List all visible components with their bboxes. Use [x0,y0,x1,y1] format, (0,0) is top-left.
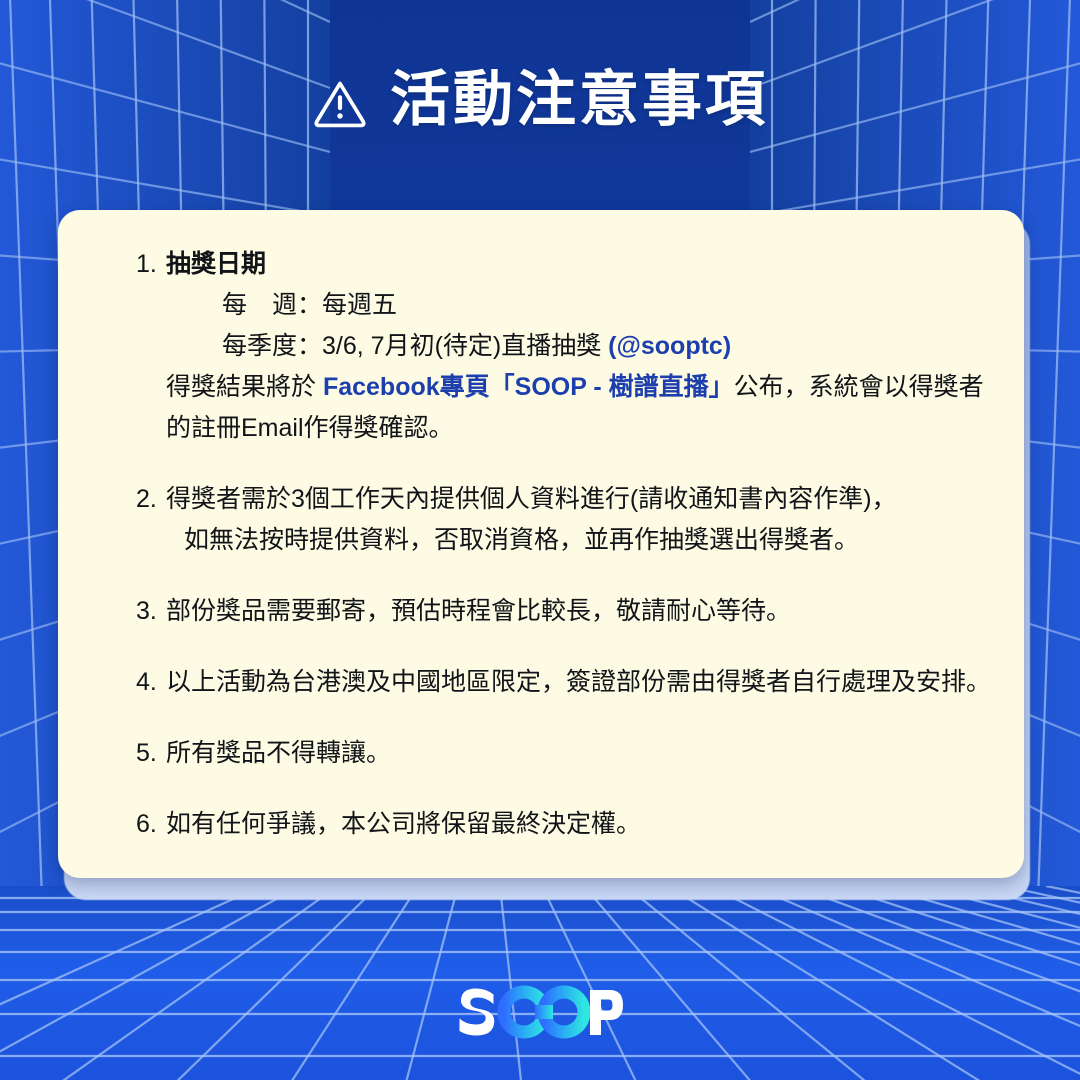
notice-1-paragraph-prefix: 得獎結果將於 [166,373,323,401]
notice-list: 1. 抽獎日期 每 週：每週五 每季度：3/6, 7月初(待定)直播抽獎 (@s… [136,244,998,845]
notice-1-row-weekly: 每 週：每週五 [166,285,998,326]
warning-triangle-icon [312,76,368,132]
list-item: 5. 所有獎品不得轉讓。 [136,733,998,774]
poster-header: 活動注意事項 [0,0,1080,200]
notice-card-wrapper: 1. 抽獎日期 每 週：每週五 每季度：3/6, 7月初(待定)直播抽獎 (@s… [58,210,1024,878]
page-title: 活動注意事項 [390,70,768,130]
notice-6-line1: 如有任何爭議，本公司將保留最終決定權。 [166,804,998,845]
facebook-page-link[interactable]: Facebook專頁「SOOP - 樹譜直播」 [323,373,734,401]
notice-1-row-quarterly-value: 3/6, 7月初(待定)直播抽獎 [322,332,601,360]
list-item: 1. 抽獎日期 每 週：每週五 每季度：3/6, 7月初(待定)直播抽獎 (@s… [136,244,998,449]
poster-root: 活動注意事項 1. 抽獎日期 每 週：每週五 每季度：3/6, 7月初(待定)直… [0,0,1080,1080]
list-item: 3. 部份獎品需要郵寄，預估時程會比較長，敬請耐心等待。 [136,591,998,632]
notice-3-line1: 部份獎品需要郵寄，預估時程會比較長，敬請耐心等待。 [166,591,998,632]
notice-card: 1. 抽獎日期 每 週：每週五 每季度：3/6, 7月初(待定)直播抽獎 (@s… [58,210,1024,878]
notice-1-row-quarterly: 每季度：3/6, 7月初(待定)直播抽獎 (@sooptc) [166,326,998,367]
list-item: 2. 得獎者需於3個工作天內提供個人資料進行(請收通知書內容作準)， 如無法按時… [136,479,998,561]
list-item: 6. 如有任何爭議，本公司將保留最終決定權。 [136,804,998,845]
list-item-number: 4. [136,662,166,702]
list-item-number: 2. [136,479,166,519]
list-item-number: 5. [136,733,166,773]
soop-logo [0,976,1080,1046]
list-item: 4. 以上活動為台港澳及中國地區限定，簽證部份需由得獎者自行處理及安排。 [136,662,998,703]
notice-2-line2: 如無法按時提供資料，否取消資格，並再作抽獎選出得獎者。 [166,520,998,561]
soop-logo-icon [455,979,625,1043]
list-item-number: 6. [136,804,166,844]
notice-4-line1: 以上活動為台港澳及中國地區限定，簽證部份需由得獎者自行處理及安排。 [166,662,998,703]
notice-5-line1: 所有獎品不得轉讓。 [166,733,998,774]
notice-1-paragraph: 得獎結果將於 Facebook專頁「SOOP - 樹譜直播」公布，系統會以得獎者… [166,367,998,449]
list-item-number: 3. [136,591,166,631]
list-item-number: 1. [136,244,166,284]
notice-2-line1: 得獎者需於3個工作天內提供個人資料進行(請收通知書內容作準)， [166,479,998,520]
notice-1-row-weekly-value: 每週五 [322,291,397,319]
notice-1-heading: 抽獎日期 [166,244,998,285]
sooptc-handle[interactable]: (@sooptc) [608,332,731,360]
notice-1-row-weekly-label: 每 週： [222,285,322,326]
notice-1-row-quarterly-label: 每季度： [222,326,322,367]
